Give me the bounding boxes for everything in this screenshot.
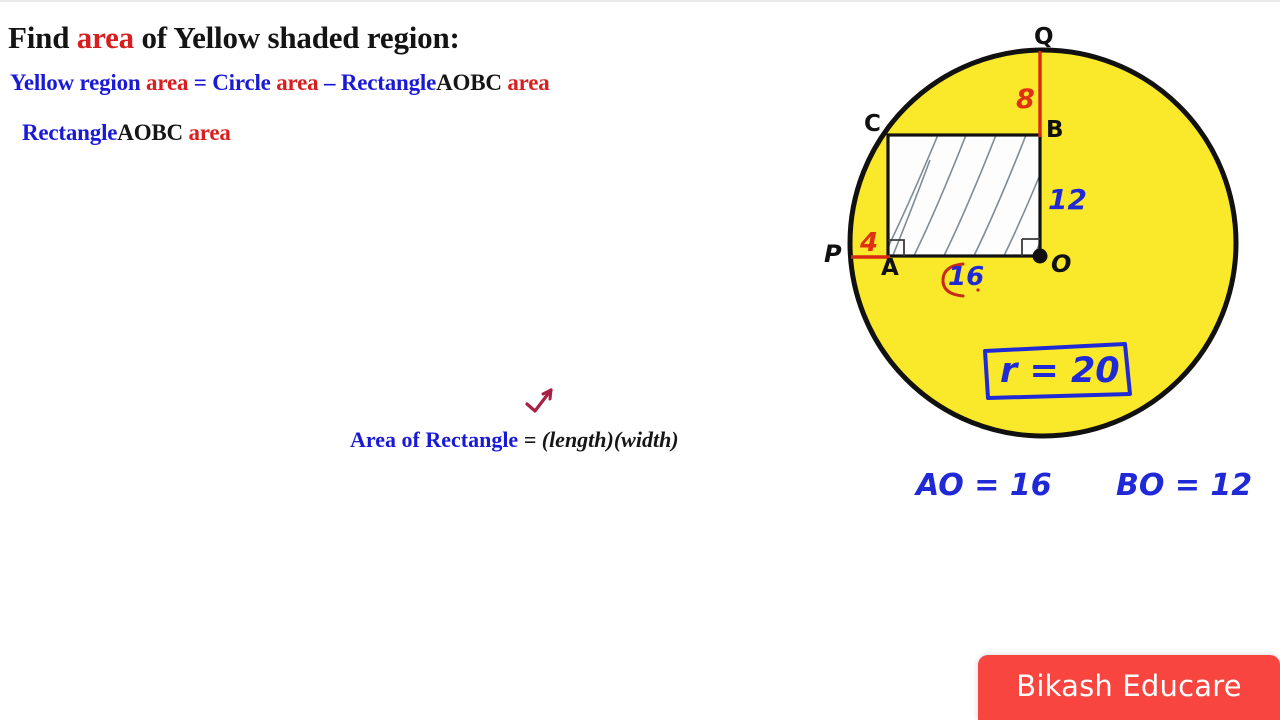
eq1-area-3: area [502,70,550,95]
page-title: Find area of Yellow shaded region: [8,20,460,56]
eq1-area-2: area [276,70,318,95]
point-label-c: C [864,111,881,137]
title-part-1: Find [8,20,77,55]
eq2-area: area [183,120,231,145]
measure-ao-16: 16 [948,262,984,292]
title-part-2: of Yellow shaded region: [134,20,460,55]
eq1-minus: – [318,70,340,95]
eq2-rectangle: Rectangle [22,120,117,145]
rectangle-area-formula: Area of Rectangle = (length)(width) [350,427,679,453]
point-label-o: O [1051,250,1071,278]
eq2-aobc: AOBC [117,120,183,145]
note-ao-equals-16: AO = 16 [916,468,1052,503]
radius-value-label: r = 20 [1000,351,1120,391]
note-bo-equals-12: BO = 12 [1116,468,1252,503]
eq1-circle: Circle [212,70,276,95]
rectangle-aobc-fill [888,135,1040,256]
measure-pa-4: 4 [860,228,878,258]
point-label-p: P [824,240,842,268]
measure-qb-8: 8 [1016,84,1035,115]
equation-line-1: Yellow region area = Circle area – Recta… [10,70,550,96]
eq1-area-1: area [146,70,188,95]
title-accent-area: area [77,20,134,55]
watermark-badge: Bikash Educare [978,655,1280,720]
center-point-o [1033,249,1048,264]
point-label-q: Q [1034,24,1054,50]
point-label-a: A [881,255,899,281]
measure-bo-12: 12 [1048,183,1087,216]
formula-lhs: Area of Rectangle [350,427,524,452]
eq1-yellow-region: Yellow region [10,70,146,95]
eq1-aobc: AOBC [436,70,502,95]
formula-rhs: = (length)(width) [524,427,679,452]
watermark-label: Bikash Educare [978,669,1280,703]
point-label-b: B [1046,117,1064,143]
eq1-equals: = [188,70,212,95]
equation-line-2: RectangleAOBC area [22,120,231,146]
eq1-rectangle: Rectangle [341,70,436,95]
